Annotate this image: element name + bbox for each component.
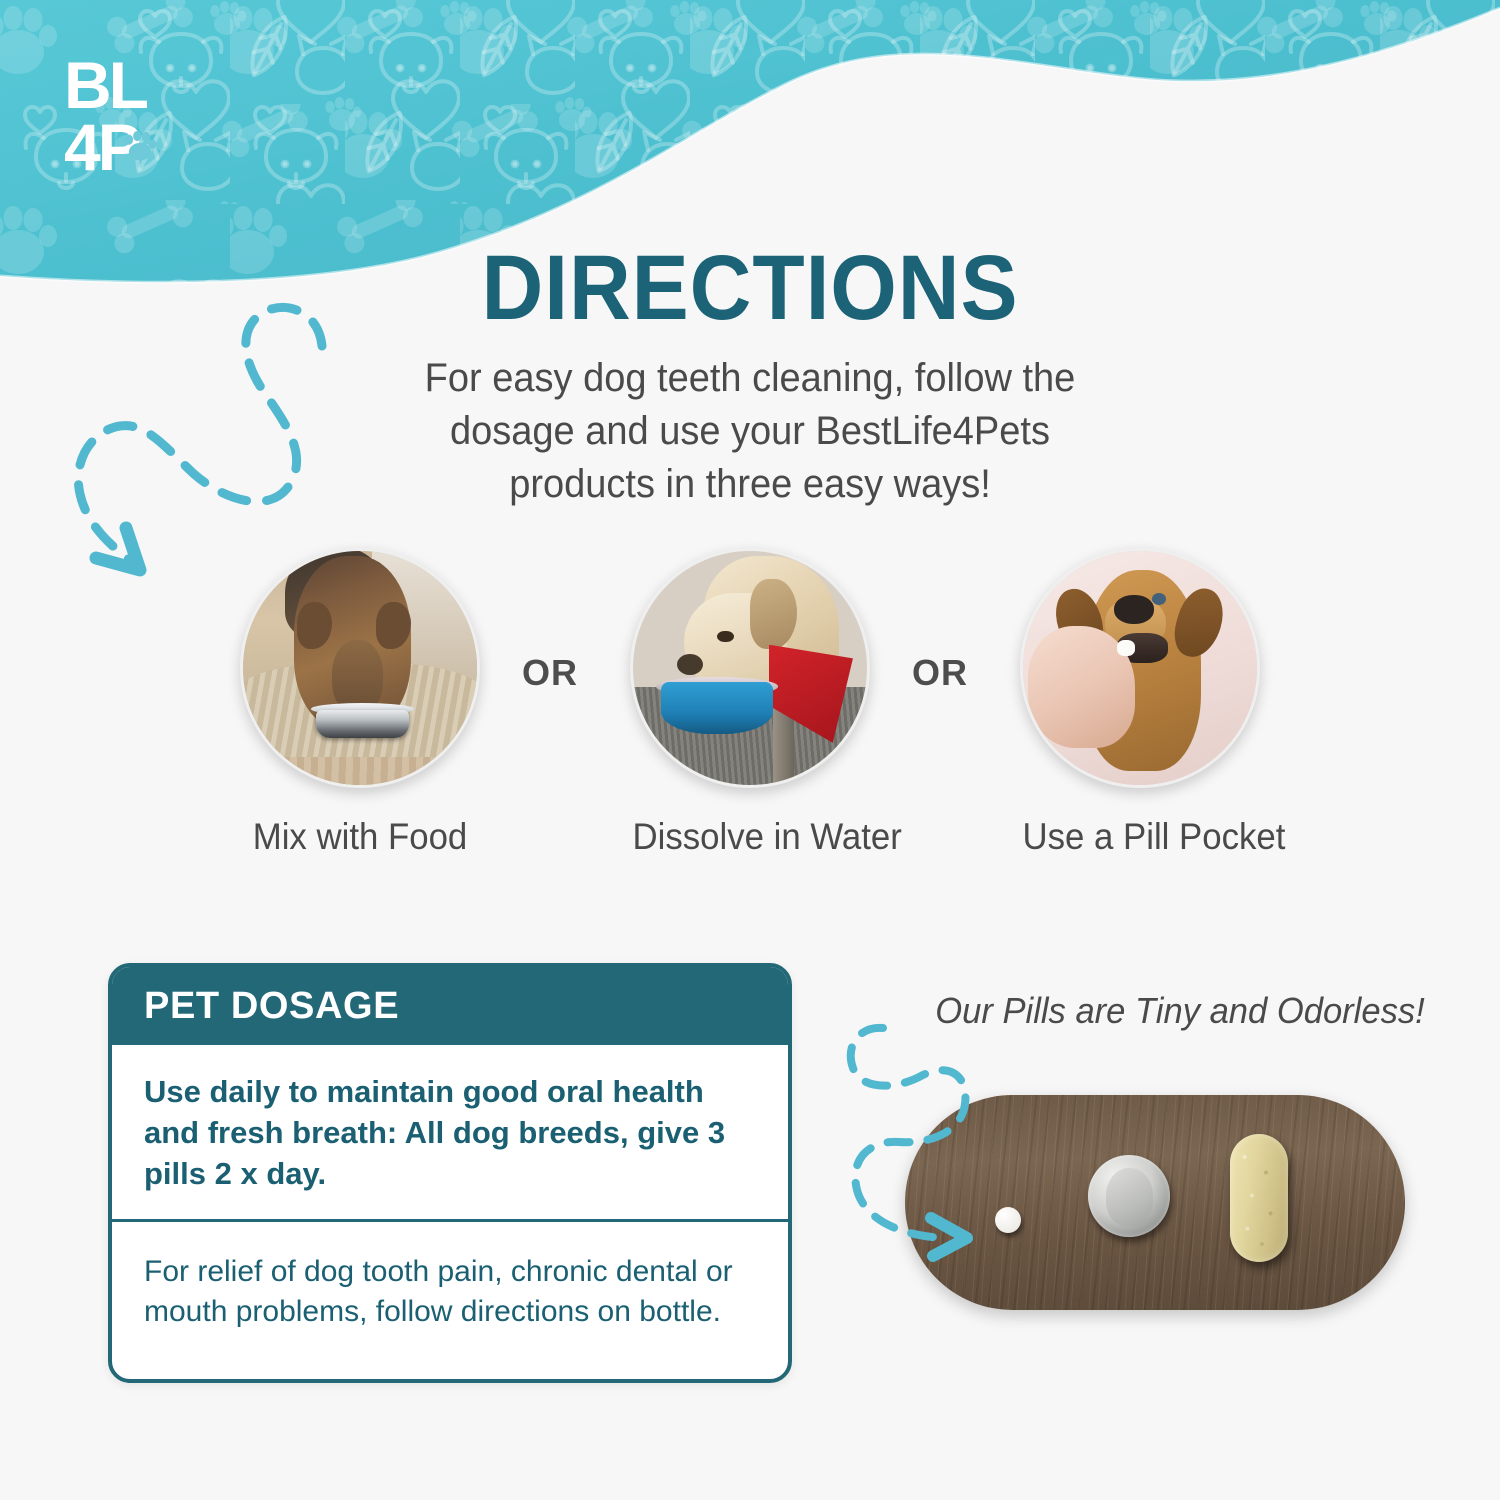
- page-subtitle: For easy dog teeth cleaning, follow the …: [389, 352, 1111, 512]
- method-item-dissolve-in-water[interactable]: Dissolve in Water: [625, 548, 875, 858]
- pet-dosage-header: PET DOSAGE: [112, 967, 788, 1045]
- method-image-dissolve-in-water: [630, 548, 870, 788]
- method-separator-or: OR: [895, 652, 985, 694]
- pet-dosage-card: PET DOSAGE Use daily to maintain good or…: [108, 963, 792, 1383]
- dashed-curved-arrow-left: [50, 288, 350, 578]
- method-image-use-a-pill-pocket: [1020, 548, 1260, 788]
- dosage-secondary-text: For relief of dog tooth pain, chronic de…: [112, 1222, 788, 1334]
- dosage-primary-text: Use daily to maintain good oral health a…: [112, 1045, 788, 1222]
- capsule-texture: [1230, 1134, 1288, 1262]
- method-label: Mix with Food: [243, 816, 478, 858]
- brand-logo: BL 4P: [62, 48, 172, 176]
- method-label: Dissolve in Water: [633, 816, 868, 858]
- method-label: Use a Pill Pocket: [1023, 816, 1258, 858]
- dashed-curved-arrow-pill: [835, 1012, 1035, 1272]
- large-tan-capsule: [1230, 1134, 1288, 1262]
- method-separator-or: OR: [505, 652, 595, 694]
- methods-row: Mix with Food OR Dissolve in Water OR: [0, 548, 1500, 878]
- dime-coin: [1088, 1155, 1170, 1237]
- dime-portrait: [1106, 1168, 1154, 1225]
- method-item-use-a-pill-pocket[interactable]: Use a Pill Pocket: [1015, 548, 1265, 858]
- method-item-mix-with-food[interactable]: Mix with Food: [235, 548, 485, 858]
- method-image-mix-with-food: [240, 548, 480, 788]
